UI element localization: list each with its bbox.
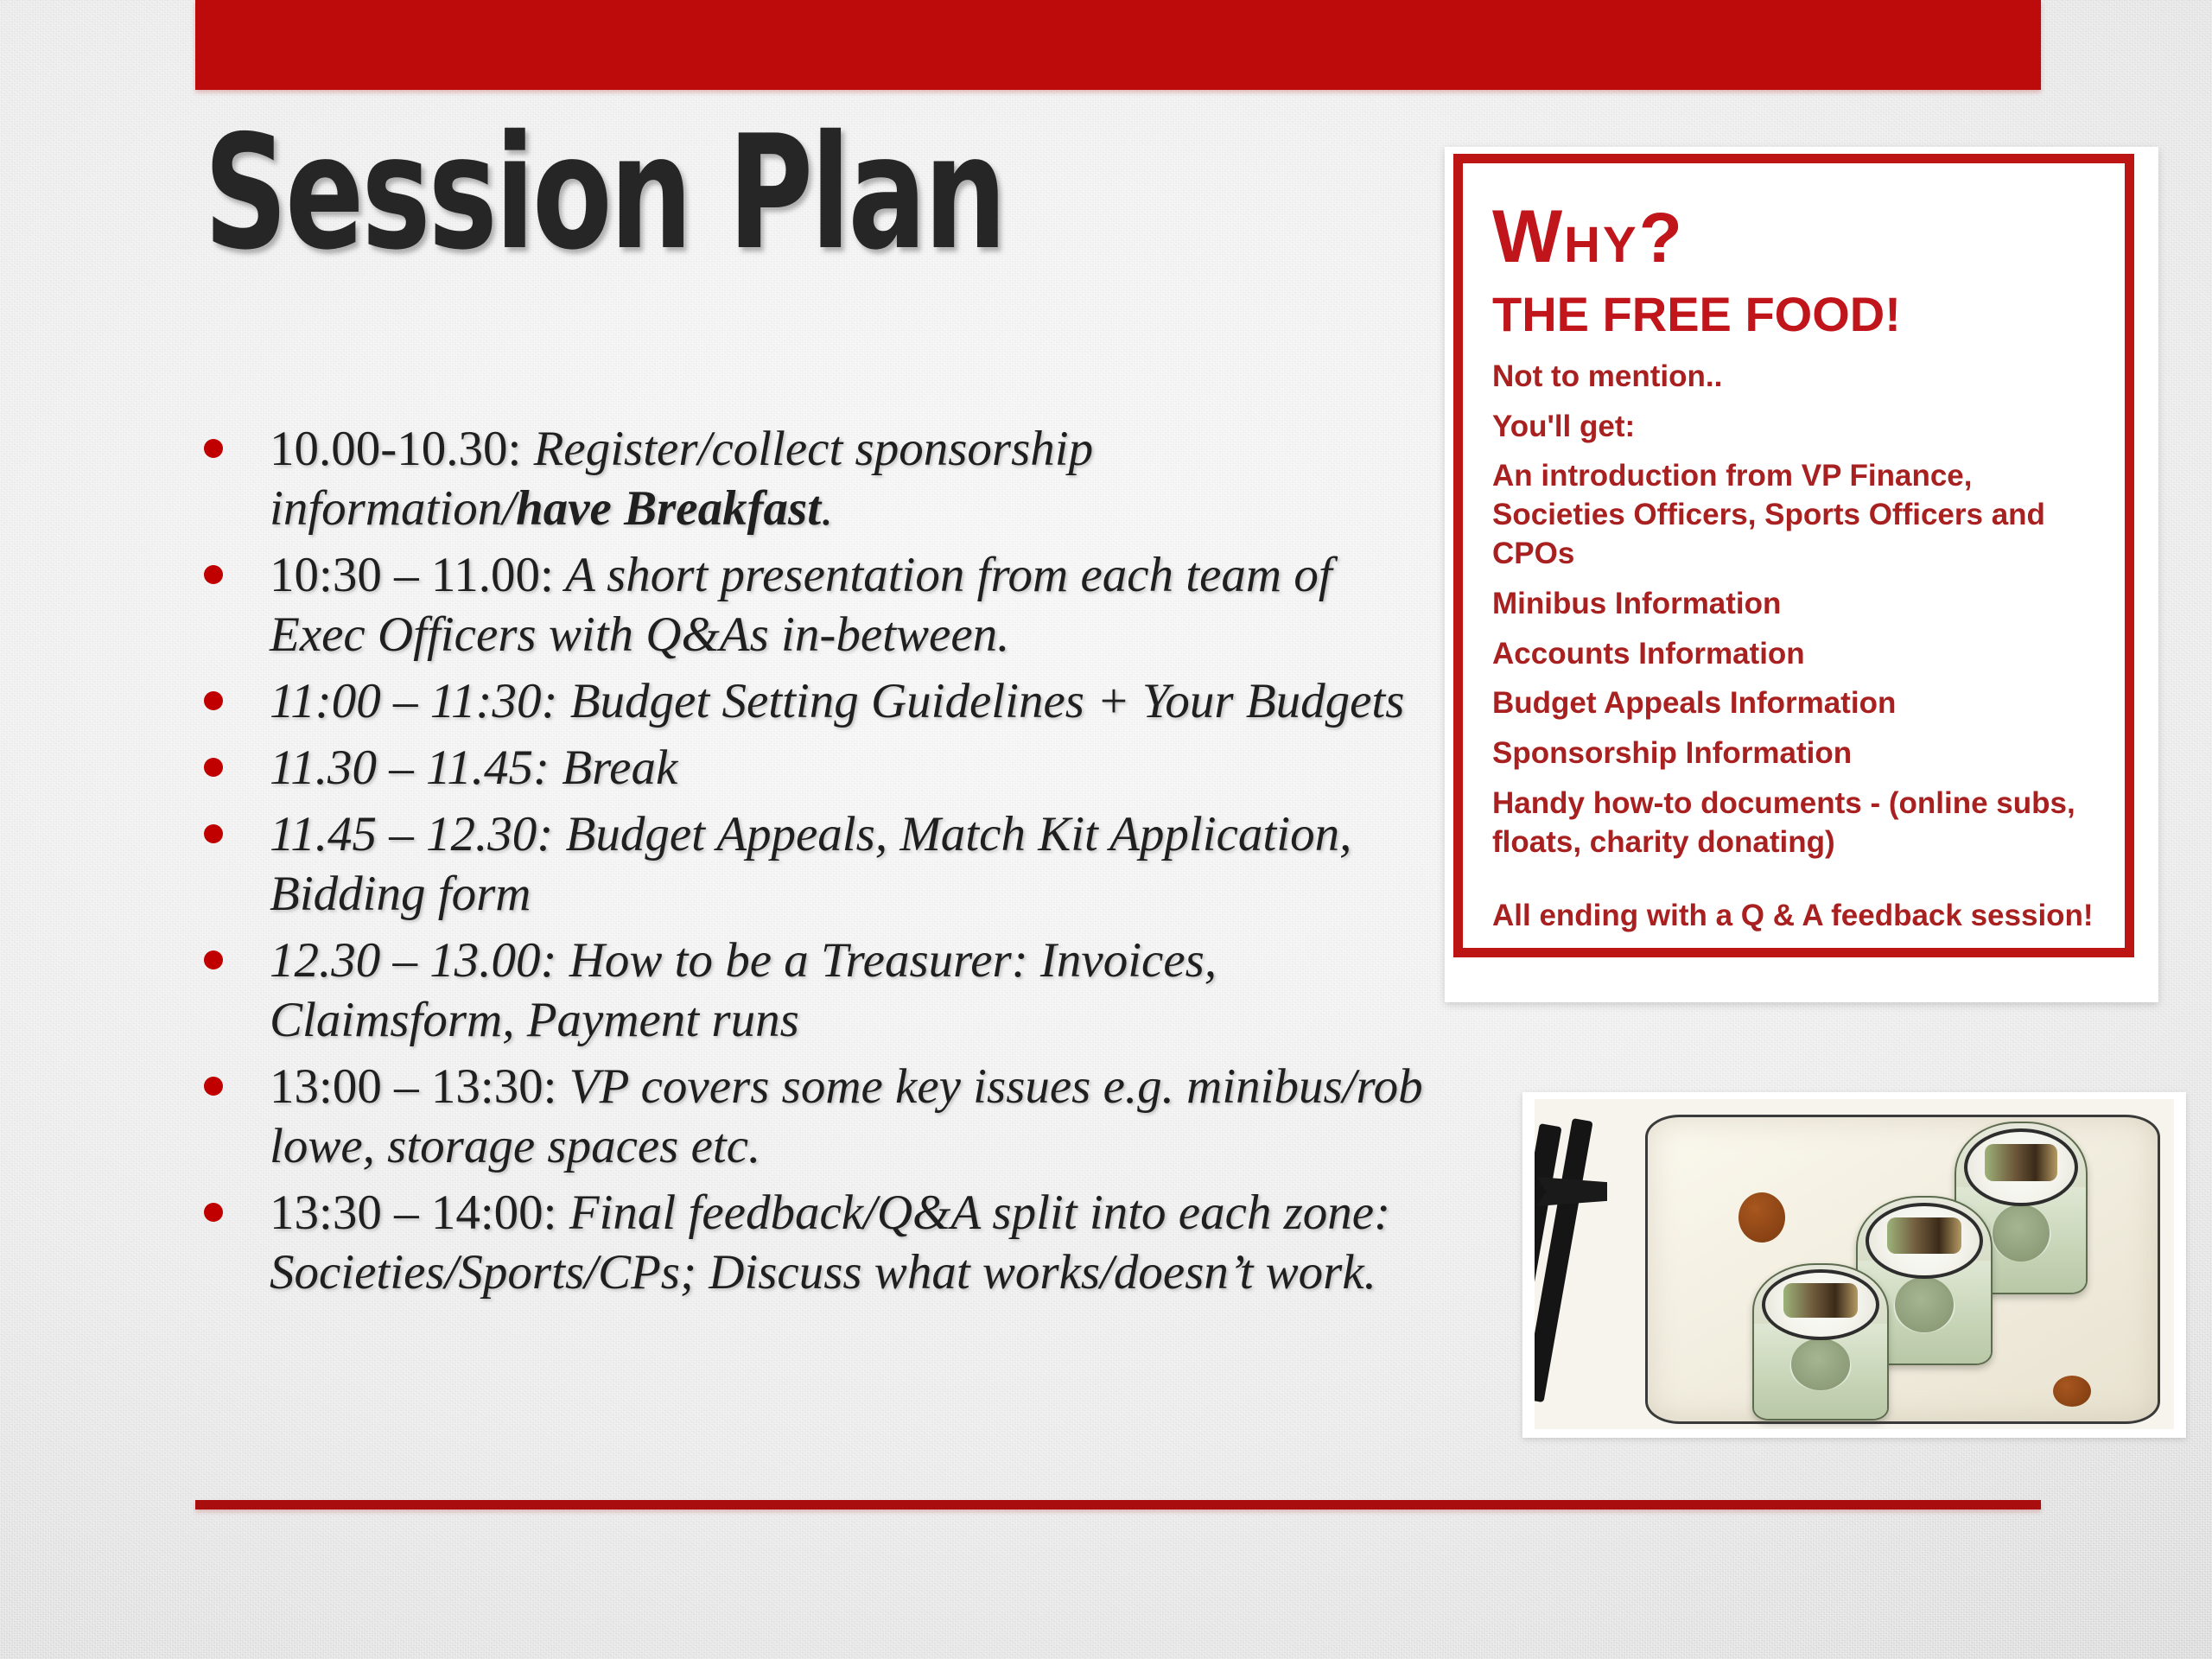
sushi-money-photo: [1522, 1092, 2186, 1438]
agenda-item: 13:30 – 14:00: Final feedback/Q&A split …: [204, 1184, 1431, 1303]
photo-content: [1535, 1099, 2174, 1429]
agenda-item: 10:30 – 11.00: A short presentation from…: [204, 546, 1431, 665]
bullet-dot-icon: [204, 1203, 223, 1222]
agenda-item: 12.30 – 13.00: How to be a Treasurer: In…: [204, 931, 1431, 1051]
bullet-dot-icon: [204, 758, 223, 777]
agenda-item-time: 11.30 – 11.45:: [270, 741, 550, 795]
roll-filling: [1985, 1144, 2057, 1181]
why-subheading: THE FREE FOOD!: [1492, 289, 2095, 340]
why-heading-hy: HY: [1564, 217, 1639, 273]
bullet-dot-icon: [204, 950, 223, 969]
sauce-dot-icon: [2053, 1376, 2091, 1407]
why-heading: WHY?: [1492, 200, 2095, 274]
why-detail-line: An introduction from VP Finance, Societi…: [1492, 457, 2095, 573]
agenda-item-time: 10.00-10.30:: [270, 422, 521, 476]
bullet-dot-icon: [204, 565, 223, 584]
why-closing-line: All ending with a Q & A feedback session…: [1492, 897, 2095, 936]
agenda-item-text: 13:30 – 14:00: Final feedback/Q&A split …: [270, 1184, 1431, 1303]
bullet-dot-icon: [204, 824, 223, 843]
why-detail-line: Not to mention..: [1492, 358, 2095, 397]
why-detail-line: Sponsorship Information: [1492, 734, 2095, 773]
agenda-item: 13:00 – 13:30: VP covers some key issues…: [204, 1058, 1431, 1177]
roll-filling: [1887, 1217, 1961, 1254]
why-detail-line: Accounts Information: [1492, 635, 2095, 674]
top-red-banner: [195, 0, 2041, 90]
agenda-item: 11:00 – 11:30: Budget Setting Guidelines…: [204, 672, 1431, 732]
agenda-item-text: 10.00-10.30: Register/collect sponsorshi…: [270, 420, 1431, 539]
why-callout-inner: WHY? THE FREE FOOD! Not to mention..You'…: [1453, 154, 2134, 957]
agenda-item-time: 11:00 – 11:30:: [270, 674, 557, 728]
bullet-dot-icon: [204, 691, 223, 710]
agenda-item-text: 10:30 – 11.00: A short presentation from…: [270, 546, 1431, 665]
agenda-item-text: 12.30 – 13.00: How to be a Treasurer: In…: [270, 931, 1431, 1051]
why-detail-line: Minibus Information: [1492, 585, 2095, 624]
agenda-item: 11.30 – 11.45: Break: [204, 739, 1431, 798]
sushi-roll-shape: [1752, 1263, 1889, 1421]
why-heading-question: ?: [1639, 199, 1682, 277]
agenda-item-text: 11.30 – 11.45: Break: [270, 739, 1431, 798]
agenda-item-text: 11:00 – 11:30: Budget Setting Guidelines…: [270, 672, 1431, 732]
agenda-item-time: 12.30 – 13.00:: [270, 933, 556, 988]
agenda-item: 11.45 – 12.30: Budget Appeals, Match Kit…: [204, 805, 1431, 925]
agenda-item-desc: Break: [550, 741, 677, 795]
why-detail-line: Handy how-to documents - (online subs, f…: [1492, 785, 2095, 862]
page-title: Session Plan: [204, 114, 1004, 271]
why-callout-card: WHY? THE FREE FOOD! Not to mention..You'…: [1445, 147, 2158, 1002]
agenda-item-time: 13:00 – 13:30:: [270, 1059, 557, 1114]
why-heading-w: W: [1492, 195, 1564, 278]
agenda-item-time: 13:30 – 14:00:: [270, 1185, 557, 1240]
agenda-item-emphasis: have Breakfast: [516, 481, 821, 536]
slide-canvas: Session Plan 10.00-10.30: Register/colle…: [0, 0, 2212, 1659]
agenda-item-text: 13:00 – 13:30: VP covers some key issues…: [270, 1058, 1431, 1177]
roll-filling: [1783, 1283, 1858, 1317]
agenda-item: 10.00-10.30: Register/collect sponsorshi…: [204, 420, 1431, 539]
chopstick-rest-icon: [1536, 1177, 1607, 1206]
agenda-item-tail: .: [821, 481, 833, 536]
bullet-dot-icon: [204, 439, 223, 458]
bullet-dot-icon: [204, 1077, 223, 1096]
sauce-dot-icon: [1738, 1192, 1785, 1243]
agenda-list: 10.00-10.30: Register/collect sponsorshi…: [204, 420, 1431, 1310]
agenda-item-desc: Budget Setting Guidelines + Your Budgets: [557, 674, 1404, 728]
why-detail-line: Budget Appeals Information: [1492, 684, 2095, 723]
why-lines: Not to mention..You'll get:An introducti…: [1492, 358, 2095, 862]
why-detail-line: You'll get:: [1492, 408, 2095, 447]
agenda-item-text: 11.45 – 12.30: Budget Appeals, Match Kit…: [270, 805, 1431, 925]
agenda-item-time: 11.45 – 12.30:: [270, 807, 553, 861]
agenda-item-time: 10:30 – 11.00:: [270, 548, 554, 602]
bottom-red-rule: [195, 1500, 2041, 1510]
